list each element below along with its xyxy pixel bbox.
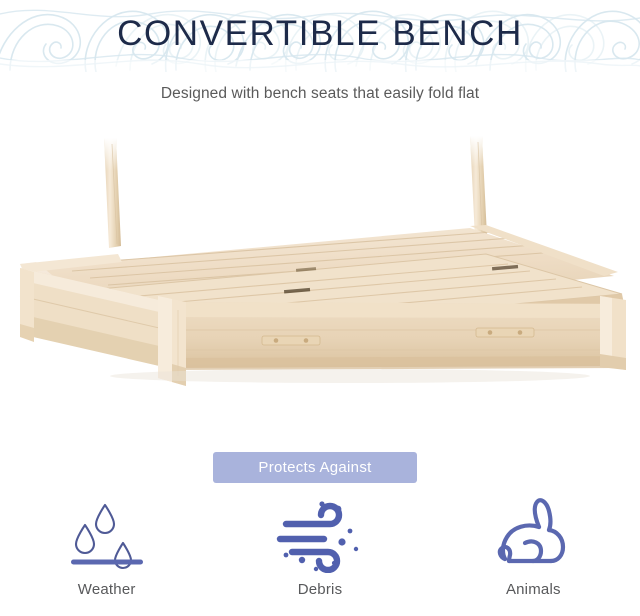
- sandbox-illustration: [0, 118, 640, 440]
- feature-debris: Debris: [213, 496, 426, 616]
- feature-label-debris: Debris: [298, 581, 343, 598]
- feature-weather: Weather: [0, 496, 213, 616]
- product-feature-panel: CONVERTIBLE BENCH Designed with bench se…: [0, 0, 640, 616]
- rabbit-icon: [478, 496, 588, 574]
- corner-post-front-right: [600, 296, 626, 370]
- page-subtitle: Designed with bench seats that easily fo…: [0, 85, 640, 103]
- feature-animals: Animals: [427, 496, 640, 616]
- wind-debris-icon: [265, 496, 375, 574]
- front-latch-right: [476, 328, 534, 337]
- sandbox-front-wall: [168, 302, 624, 370]
- water-droplets-icon: [52, 496, 162, 574]
- header-banner: CONVERTIBLE BENCH: [0, 0, 640, 72]
- product-image: [0, 118, 640, 440]
- protects-against-badge: Protects Against: [213, 452, 417, 483]
- front-latch-left: [262, 336, 320, 345]
- page-title: CONVERTIBLE BENCH: [0, 14, 640, 54]
- feature-row: Weather: [0, 496, 640, 616]
- feature-label-animals: Animals: [506, 581, 561, 598]
- feature-label-weather: Weather: [78, 581, 136, 598]
